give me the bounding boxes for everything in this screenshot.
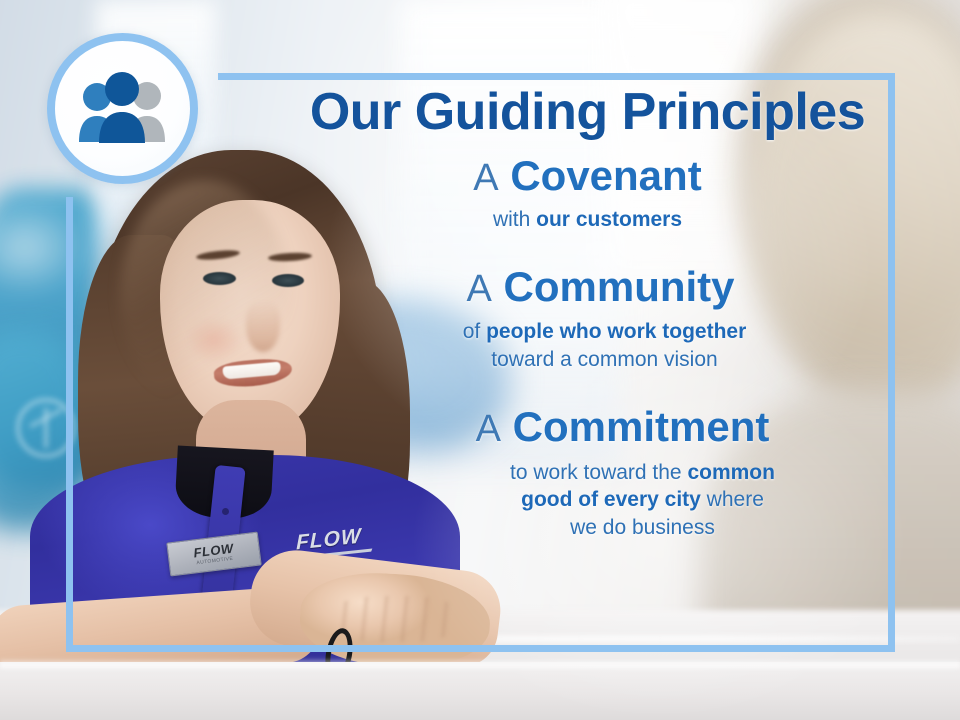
principle-heading-commitment: A Commitment — [300, 404, 875, 451]
principle-heading-covenant: A Covenant — [300, 153, 875, 200]
principle-description-commitment: to work toward the common good of every … — [300, 459, 875, 542]
desc-line: to work toward the common — [410, 459, 875, 487]
desc-segment-bold: common — [687, 461, 775, 484]
principle-community: A Community of people who work together … — [300, 264, 875, 374]
desc-segment: of — [463, 320, 486, 343]
desc-segment: to work toward the — [510, 461, 687, 484]
desk-surface-front — [0, 662, 960, 720]
desc-line: of people who work together — [334, 318, 875, 346]
desc-segment-bold: our customers — [536, 208, 682, 231]
text-column: Our Guiding Principles A Covenant with o… — [300, 86, 875, 542]
desc-segment: toward a common vision — [491, 348, 717, 371]
article-label: A — [476, 408, 501, 450]
desc-segment-bold: good of every city — [521, 488, 701, 511]
eye-left — [203, 272, 236, 285]
guiding-principles-poster: FLOW FLOW AUTOMOTIVE — [0, 0, 960, 720]
desc-line: good of every city where — [410, 486, 875, 514]
article-label: A — [466, 268, 491, 310]
shirt-button-top — [222, 508, 229, 515]
principle-description-covenant: with our customers — [300, 206, 875, 234]
keyword-community: Community — [504, 263, 735, 310]
cheek-highlight — [186, 318, 242, 362]
principle-covenant: A Covenant with our customers — [300, 153, 875, 234]
desc-segment-bold: people who work together — [486, 320, 746, 343]
desc-segment: with — [493, 208, 536, 231]
desk-front-highlight — [0, 658, 960, 668]
page-title: Our Guiding Principles — [300, 86, 875, 139]
desc-line: with our customers — [300, 206, 875, 234]
principle-description-community: of people who work together toward a com… — [300, 318, 875, 373]
article-label: A — [473, 157, 498, 199]
nose — [246, 300, 280, 352]
principle-heading-community: A Community — [300, 264, 875, 311]
principle-commitment: A Commitment to work toward the common g… — [300, 404, 875, 542]
keyword-commitment: Commitment — [513, 403, 770, 450]
desc-segment: where — [701, 488, 764, 511]
desc-segment: we do business — [570, 516, 715, 539]
keyword-covenant: Covenant — [510, 152, 701, 199]
desc-line: toward a common vision — [334, 346, 875, 374]
desc-line: we do business — [410, 514, 875, 542]
people-group-icon — [71, 72, 175, 146]
people-group-icon-badge — [47, 33, 198, 184]
teeth — [222, 362, 281, 380]
